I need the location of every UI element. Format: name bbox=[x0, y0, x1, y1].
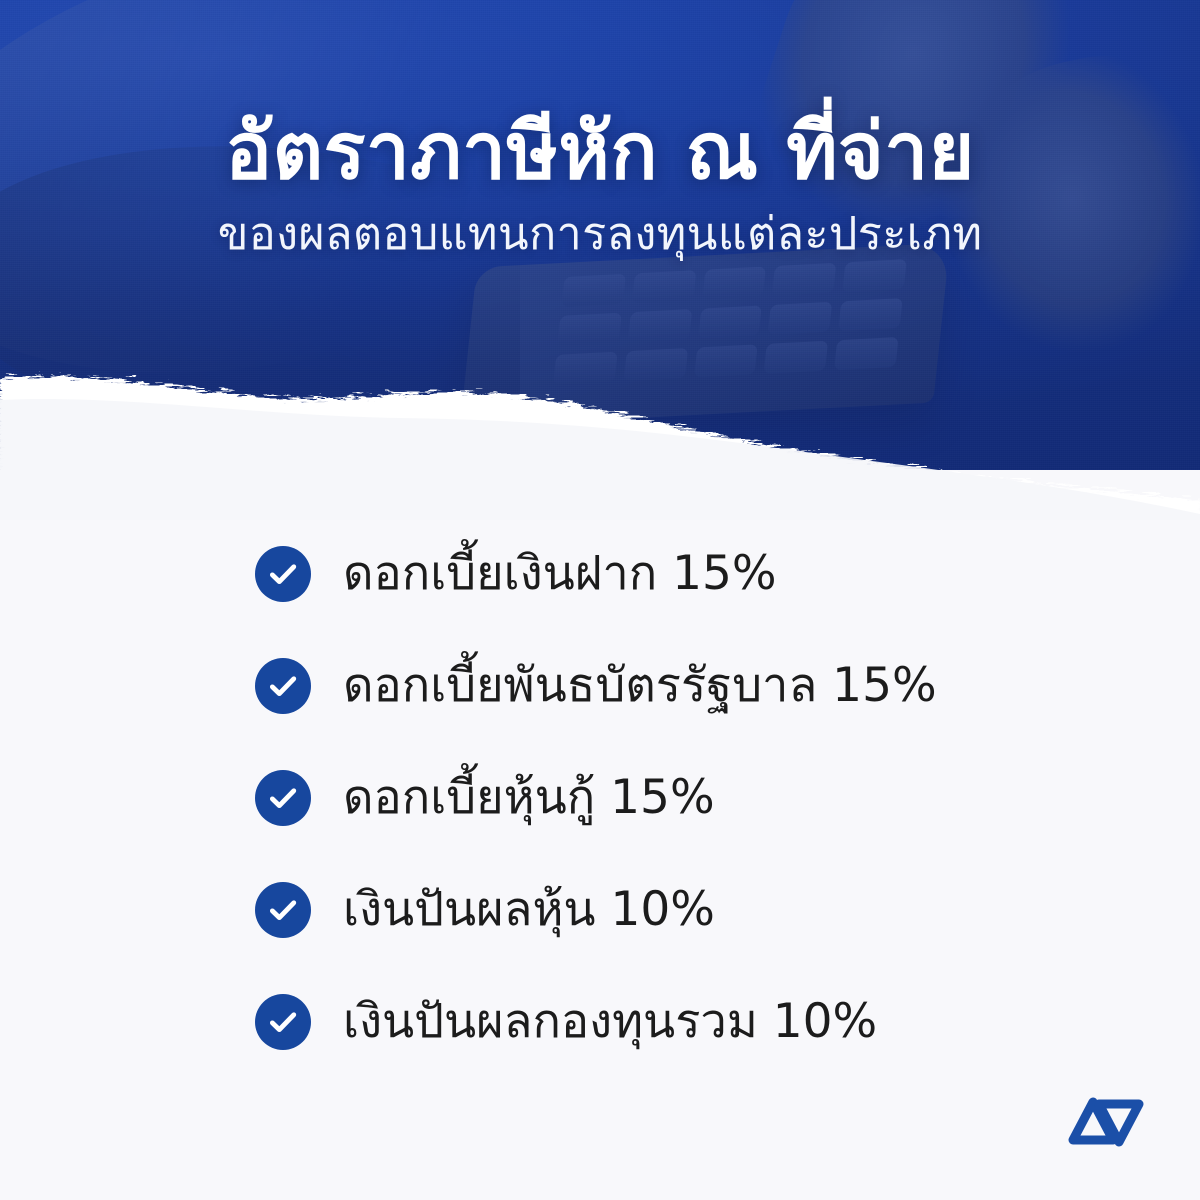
poster-canvas: อัตราภาษีหัก ณ ที่จ่าย ของผลตอบแทนการลงท… bbox=[0, 0, 1200, 1200]
list-item-label: เงินปันผลหุ้น 10% bbox=[343, 884, 715, 936]
title-block: อัตราภาษีหัก ณ ที่จ่าย ของผลตอบแทนการลงท… bbox=[0, 112, 1200, 260]
check-circle-icon bbox=[255, 546, 311, 602]
list-item[interactable]: เงินปันผลหุ้น 10% bbox=[255, 854, 1075, 966]
page-title: อัตราภาษีหัก ณ ที่จ่าย bbox=[0, 112, 1200, 194]
list-item-label: ดอกเบี้ยเงินฝาก 15% bbox=[343, 548, 777, 600]
check-circle-icon bbox=[255, 882, 311, 938]
check-circle-icon bbox=[255, 658, 311, 714]
list-item-label: ดอกเบี้ยหุ้นกู้ 15% bbox=[343, 772, 715, 824]
check-circle-icon bbox=[255, 770, 311, 826]
list-item-label: เงินปันผลกองทุนรวม 10% bbox=[343, 996, 877, 1048]
list-item[interactable]: ดอกเบี้ยเงินฝาก 15% bbox=[255, 518, 1075, 630]
list-item[interactable]: เงินปันผลกองทุนรวม 10% bbox=[255, 966, 1075, 1078]
list-item-label: ดอกเบี้ยพันธบัตรรัฐบาล 15% bbox=[343, 660, 937, 712]
check-circle-icon bbox=[255, 994, 311, 1050]
page-subtitle: ของผลตอบแทนการลงทุนแต่ละประเภท bbox=[0, 208, 1200, 260]
benefits-list: ดอกเบี้ยเงินฝาก 15% ดอกเบี้ยพันธบัตรรัฐบ… bbox=[255, 518, 1075, 1078]
list-item[interactable]: ดอกเบี้ยพันธบัตรรัฐบาล 15% bbox=[255, 630, 1075, 742]
infinity-loop-logo-icon[interactable] bbox=[1067, 1092, 1145, 1152]
list-item[interactable]: ดอกเบี้ยหุ้นกู้ 15% bbox=[255, 742, 1075, 854]
